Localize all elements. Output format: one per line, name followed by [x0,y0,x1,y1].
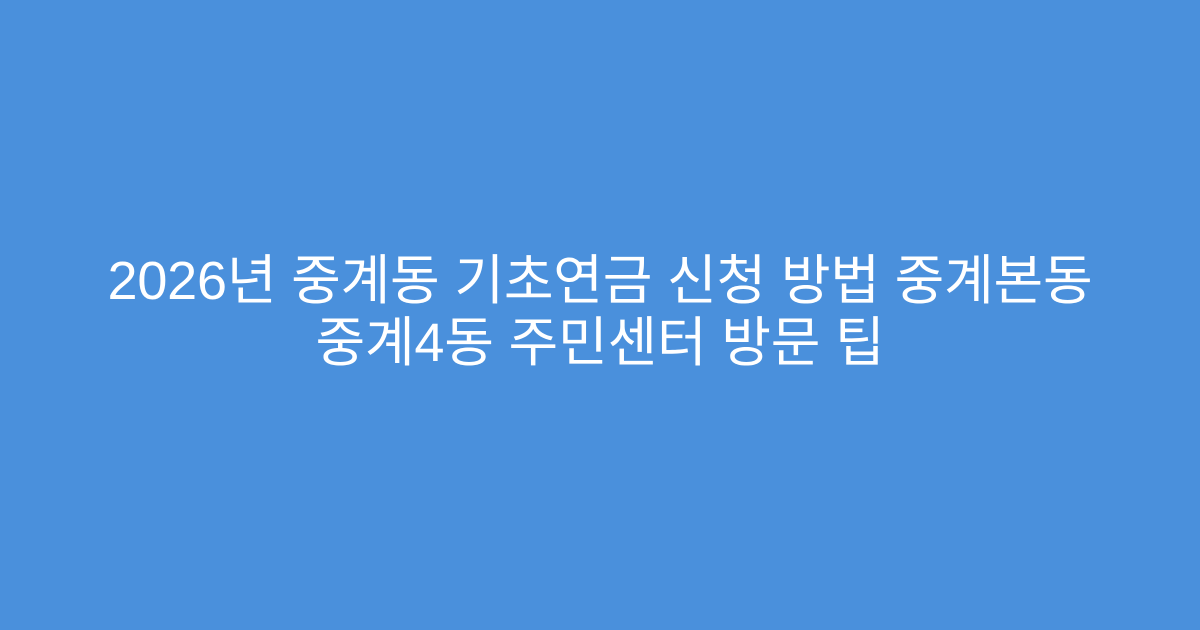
page-title-line-1: 2026년 중계동 기초연금 신청 방법 중계본동 [64,250,1136,312]
page-title: 2026년 중계동 기초연금 신청 방법 중계본동 중계4동 주민센터 방문 팁 [0,250,1200,374]
thumbnail-card: 2026년 중계동 기초연금 신청 방법 중계본동 중계4동 주민센터 방문 팁 [0,0,1200,630]
page-title-line-2: 중계4동 주민센터 방문 팁 [64,312,1136,374]
